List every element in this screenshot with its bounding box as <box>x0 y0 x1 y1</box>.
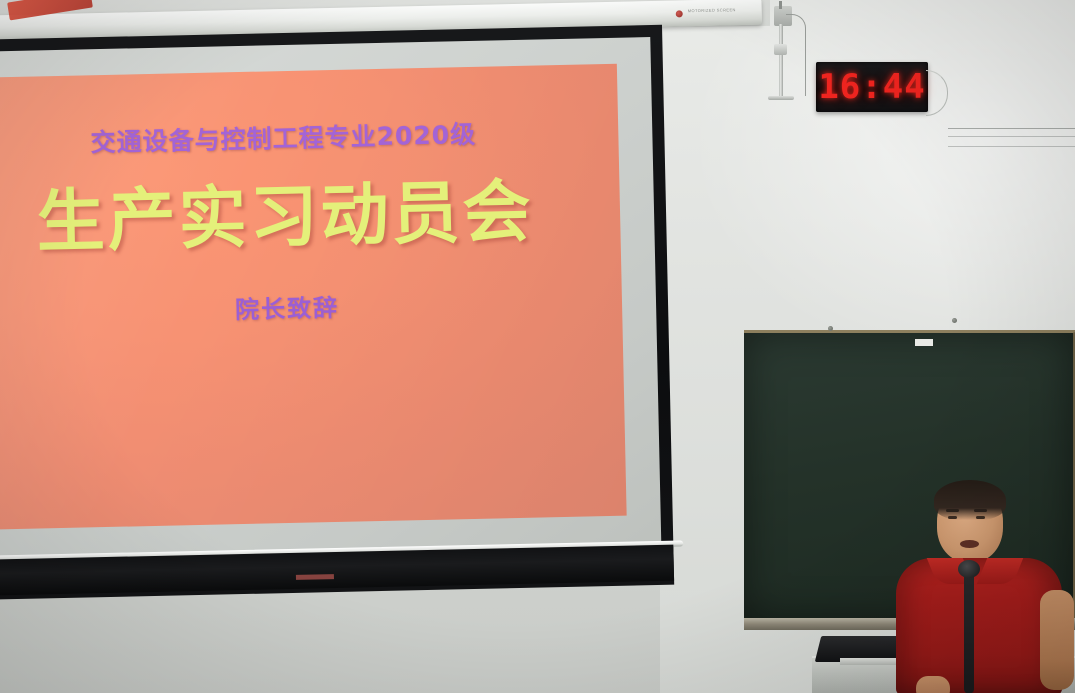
projected-slide: 交通设备与控制工程专业2020级 生产实习动员会 院长致辞 <box>0 64 627 531</box>
speaker-hair <box>934 480 1006 520</box>
speaker-right-arm <box>1040 590 1074 690</box>
digital-wall-clock: 16:44 <box>816 62 928 112</box>
speaker-eyebrow-left <box>946 509 959 512</box>
classroom-photo-scene: 16:44 MOTORIZED SCREEN <box>0 0 1075 693</box>
wall-cable-line <box>948 136 1075 137</box>
microphone-stem <box>964 566 974 693</box>
screen-casing-label: MOTORIZED SCREEN <box>688 7 736 13</box>
blackboard-label-tag <box>915 339 933 346</box>
speaker-eyebrow-right <box>974 509 987 512</box>
speaker-mouth <box>960 540 979 548</box>
screen-bottom-red-label <box>296 574 334 580</box>
wall-cable-line <box>948 146 1075 147</box>
projection-screen-assembly: MOTORIZED SCREEN 交通设备与控制工程专业2020级 生产实习动员… <box>0 0 697 625</box>
blackboard-screw <box>828 326 833 331</box>
projector-mount-foot <box>768 96 794 100</box>
projector-mount-pole <box>779 24 783 99</box>
blackboard-screw <box>952 318 957 323</box>
screen-power-led-icon <box>676 10 683 17</box>
speaker-left-hand <box>916 676 950 693</box>
speaker-person <box>890 470 1065 693</box>
wall-cable-line <box>948 128 1075 129</box>
speaker-eye-left <box>948 516 957 519</box>
speaker-eye-right <box>976 516 985 519</box>
slide-presenter-line: 院长致辞 <box>0 282 622 332</box>
projector-cable <box>786 14 806 96</box>
clock-time-display: 16:44 <box>818 67 925 107</box>
microphone-head <box>958 560 980 578</box>
slide-title: 生产实习动员会 <box>0 154 621 268</box>
